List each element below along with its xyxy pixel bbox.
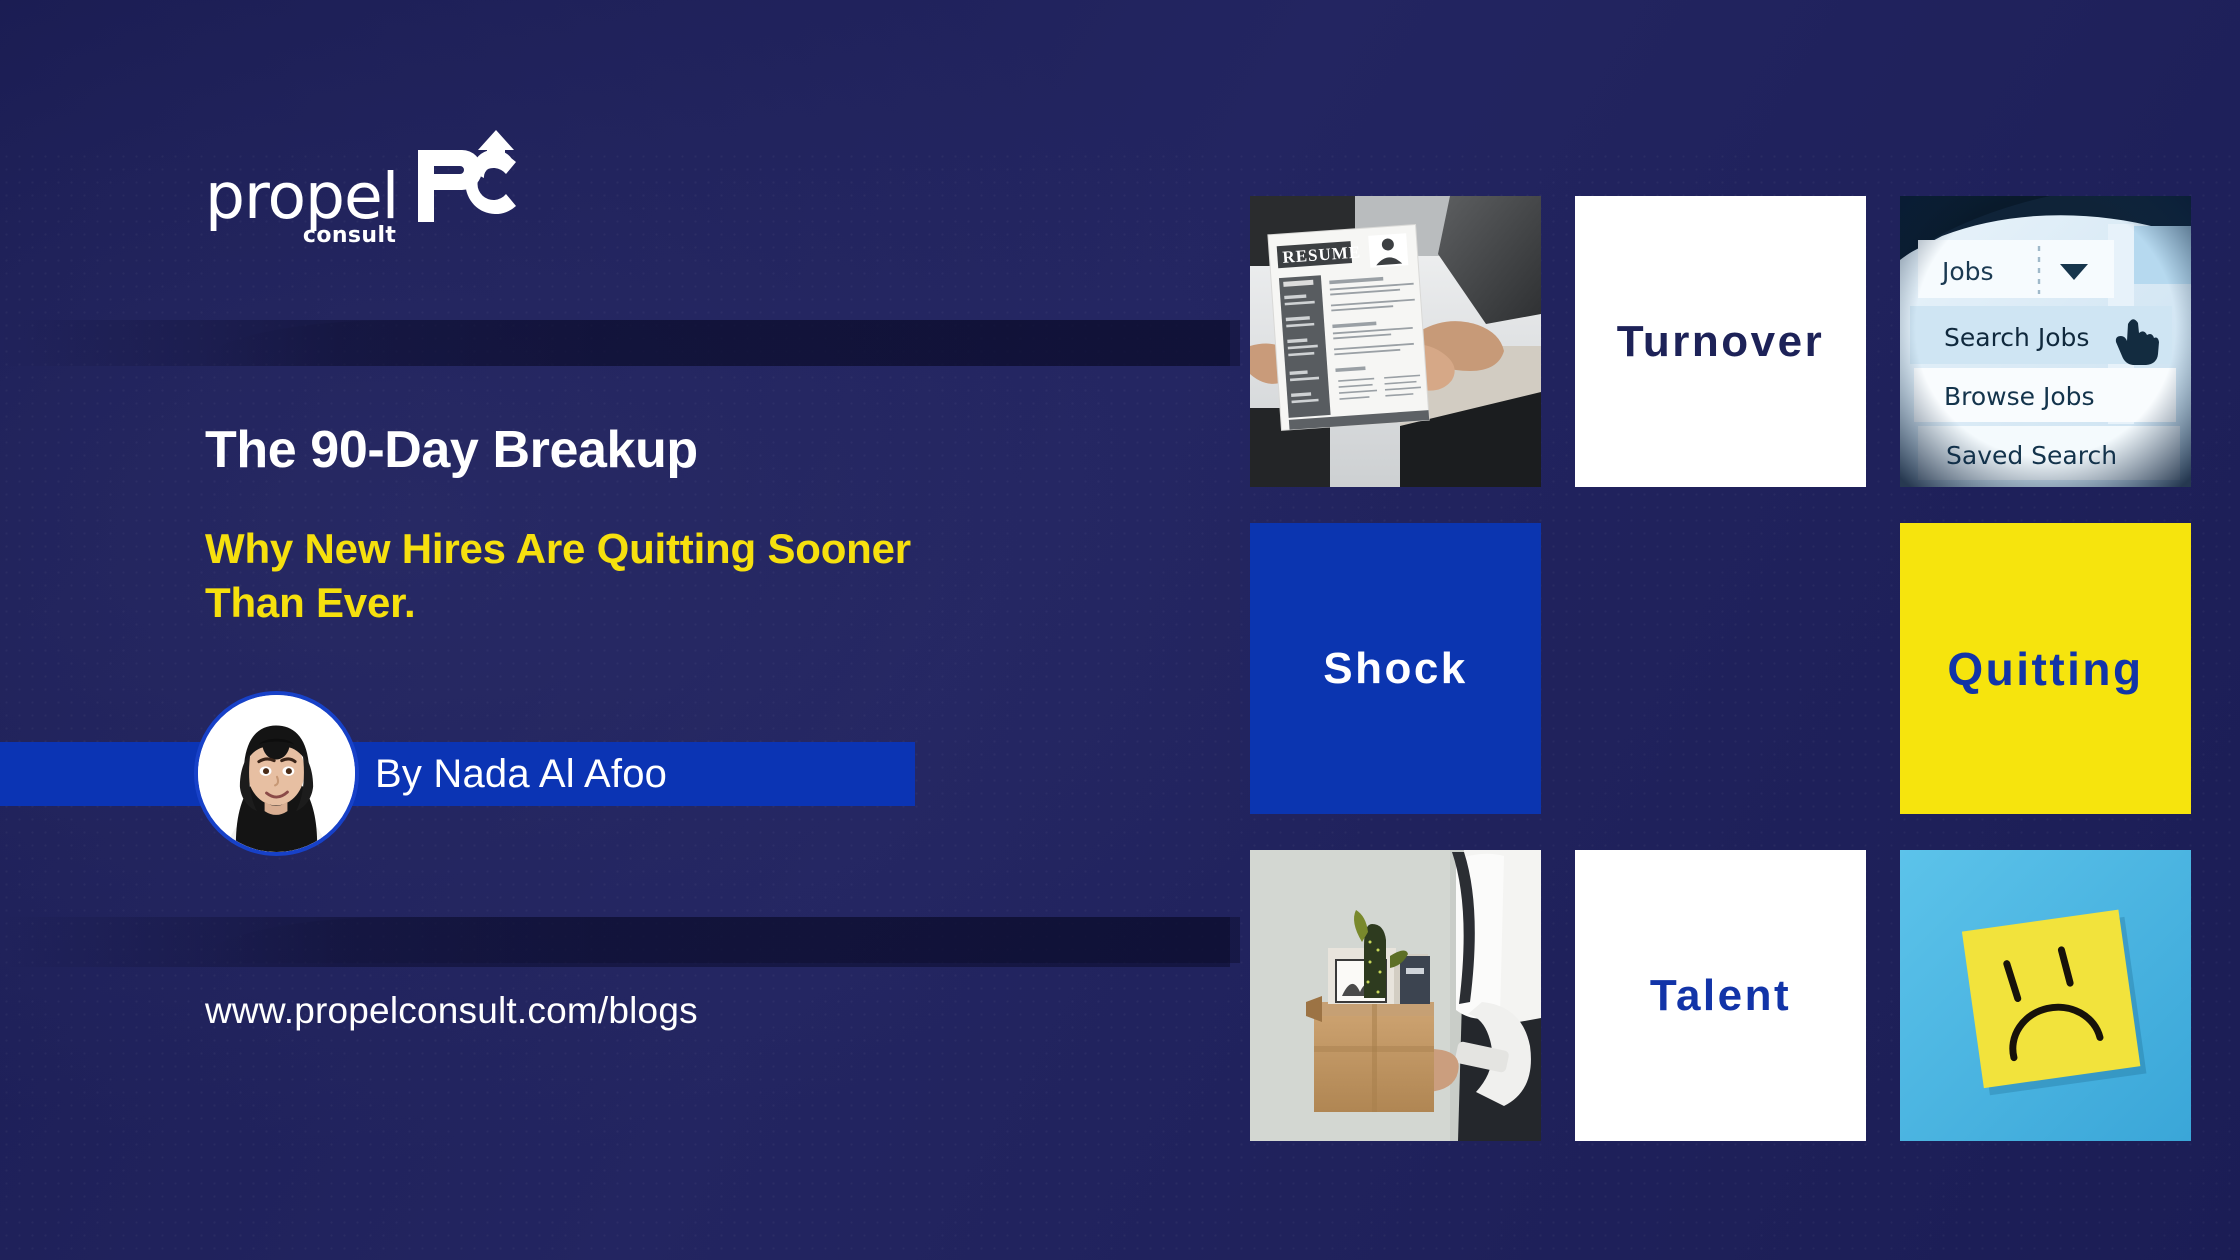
left-content-column: propel consult The 90-Day Breakup Why Ne… — [0, 0, 1230, 1260]
tile-box-of-belongings — [1250, 850, 1541, 1141]
logo-wordmark: propel consult — [205, 168, 398, 226]
tile-jobs-dropdown: Jobs Search Jobs Browse Jobs Saved Searc… — [1900, 196, 2191, 487]
page-subtitle: Why New Hires Are Quitting Sooner Than E… — [205, 522, 965, 630]
sad-sticky-note-photo — [1900, 850, 2191, 1141]
tile-label-talent: Talent — [1650, 971, 1791, 1021]
resume-handshake-photo: RESUME — [1250, 196, 1541, 487]
website-url[interactable]: www.propelconsult.com/blogs — [205, 990, 698, 1032]
tile-label-quitting: Quitting — [1947, 642, 2143, 696]
page-title: The 90-Day Breakup — [205, 420, 698, 480]
tile-label-turnover: Turnover — [1617, 317, 1824, 367]
tile-label-shock: Shock — [1323, 644, 1468, 694]
jobs-dropdown-photo: Jobs Search Jobs Browse Jobs Saved Searc… — [1900, 196, 2191, 487]
pc-arrow-monogram-icon — [416, 128, 522, 224]
tile-resume-handshake: RESUME — [1250, 196, 1541, 487]
author-byline-text: By Nada Al Afoo — [375, 742, 667, 806]
brand-logo[interactable]: propel consult — [205, 128, 522, 226]
avatar-portrait-illustration — [198, 695, 355, 852]
avatar — [194, 691, 359, 856]
tile-empty-spacer — [1575, 523, 1866, 814]
poster-canvas: propel consult The 90-Day Breakup Why Ne… — [0, 0, 2240, 1260]
image-mosaic-grid: RESUME — [1250, 196, 2191, 1141]
tile-quitting: Quitting — [1900, 523, 2191, 814]
tile-shock: Shock — [1250, 523, 1541, 814]
tile-sad-sticky-note — [1900, 850, 2191, 1141]
logo-word-consult: consult — [303, 223, 396, 248]
tile-turnover: Turnover — [1575, 196, 1866, 487]
box-of-belongings-photo — [1250, 850, 1541, 1141]
tile-talent: Talent — [1575, 850, 1866, 1141]
logo-word-propel: propel — [205, 168, 398, 226]
